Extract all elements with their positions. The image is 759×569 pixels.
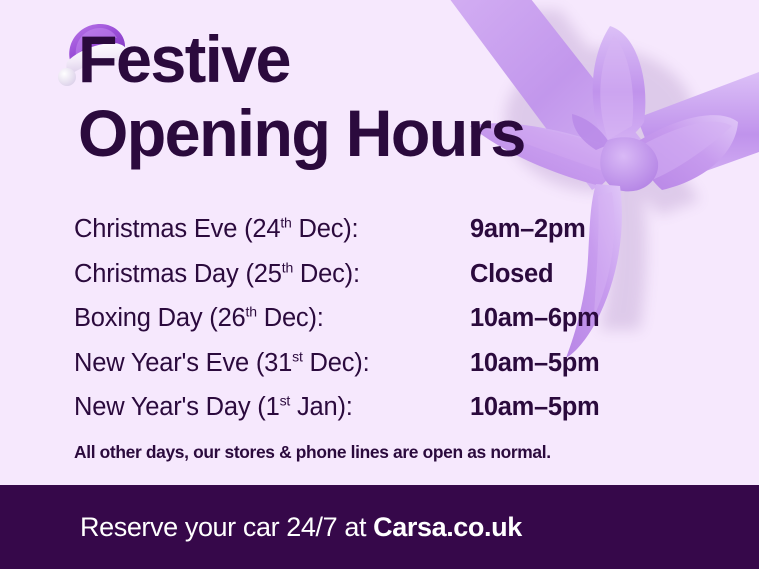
hours-row-time: 10am–6pm <box>470 296 599 341</box>
hours-row-label: Boxing Day (26th Dec): <box>74 296 324 341</box>
brand-name: Carsa.co.uk <box>373 512 522 542</box>
footer-cta-prefix: Reserve your car 24/7 at <box>80 512 373 542</box>
ordinal-suffix: st <box>280 393 291 409</box>
hours-row: Boxing Day (26th Dec): 10am–6pm <box>74 296 694 341</box>
opening-hours-list: Christmas Eve (24th Dec): 9am–2pm Christ… <box>74 207 694 430</box>
ordinal-suffix: th <box>282 259 293 275</box>
hours-row-label: New Year's Day (1st Jan): <box>74 385 353 430</box>
footnote-text: All other days, our stores & phone lines… <box>74 442 551 463</box>
hours-row: New Year's Day (1st Jan): 10am–5pm <box>74 385 694 430</box>
hours-row-time: 10am–5pm <box>470 385 599 430</box>
page-title: Festive Opening Hours <box>78 22 678 170</box>
hours-row-time: 9am–2pm <box>470 207 586 252</box>
hours-row: New Year's Eve (31st Dec): 10am–5pm <box>74 341 694 386</box>
title-line-2: Opening Hours <box>78 96 666 170</box>
footer-bar: Reserve your car 24/7 at Carsa.co.uk <box>0 485 759 569</box>
ordinal-suffix: th <box>280 215 291 231</box>
hours-row-label: New Year's Eve (31st Dec): <box>74 341 369 386</box>
title-line-1: Festive <box>78 22 666 96</box>
hours-row: Christmas Day (25th Dec): Closed <box>74 252 694 297</box>
hours-row-time: 10am–5pm <box>470 341 599 386</box>
hours-row-label: Christmas Eve (24th Dec): <box>74 207 358 252</box>
festive-opening-hours-poster: Festive Opening Hours Christmas Eve (24t… <box>0 0 759 569</box>
hours-row: Christmas Eve (24th Dec): 9am–2pm <box>74 207 694 252</box>
hours-row-time: Closed <box>470 252 553 297</box>
footer-cta-text: Reserve your car 24/7 at Carsa.co.uk <box>80 485 522 569</box>
hours-row-label: Christmas Day (25th Dec): <box>74 252 360 297</box>
ordinal-suffix: st <box>292 348 303 364</box>
ordinal-suffix: th <box>246 304 257 320</box>
